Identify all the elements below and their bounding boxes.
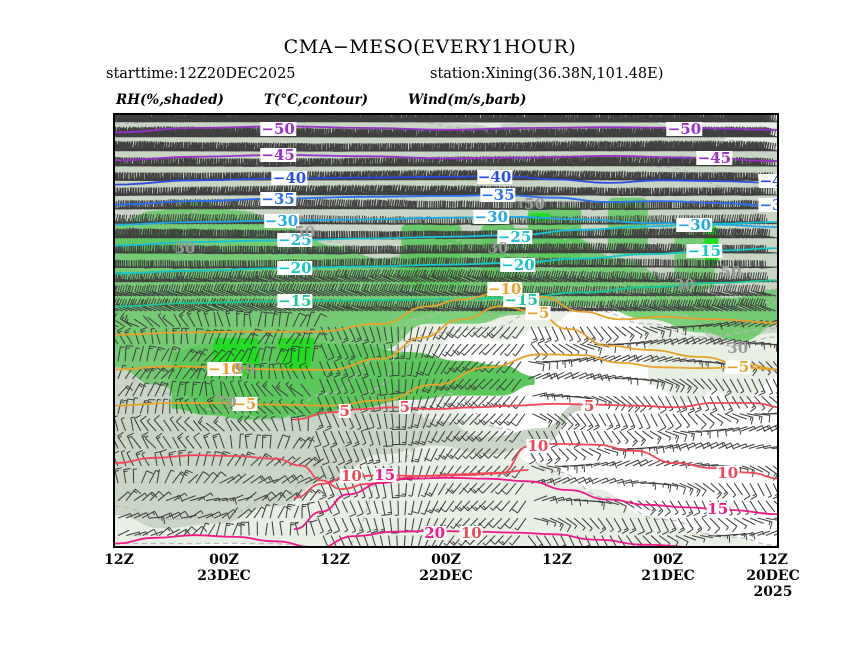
rh-contour-label: 50	[721, 265, 742, 279]
rh-contour-label: 30	[727, 341, 748, 355]
x-axis-label: 12Z	[320, 552, 350, 568]
y-axis-tick	[113, 201, 115, 203]
x-axis-date: 23DEC	[197, 568, 250, 584]
temperature-contour-label: −15	[277, 294, 312, 308]
y-axis-tick	[113, 114, 115, 116]
rh-contour-label: 50	[524, 197, 545, 211]
temperature-contour-label: −45	[260, 148, 295, 162]
y-axis-tick	[113, 317, 115, 319]
y-axis-tick	[113, 143, 115, 145]
y-axis-tick	[777, 404, 779, 406]
legend-rh-label: RH(%,shaded)	[116, 92, 224, 108]
temperature-contour-label: −50	[667, 122, 702, 136]
x-axis-tick	[225, 546, 227, 548]
y-axis-tick	[113, 462, 115, 464]
temperature-contour-label: 10	[340, 469, 363, 483]
x-axis-tick	[669, 546, 671, 548]
rh-contour-label: 70	[216, 395, 237, 409]
temperature-contour-label: −35	[260, 192, 295, 206]
x-axis-label: 12Z	[104, 552, 134, 568]
temperature-contour-label: 5	[339, 404, 351, 418]
station-label: station:Xining(36.38N,101.48E)	[430, 66, 663, 82]
x-axis-time: 12Z	[746, 552, 799, 568]
rh-contour-label: 90	[234, 362, 255, 376]
x-axis-time: 00Z	[641, 552, 694, 568]
temperature-contour-label: −5	[725, 360, 750, 374]
y-axis-tick	[777, 462, 779, 464]
y-axis-tick	[777, 230, 779, 232]
y-axis-tick	[777, 201, 779, 203]
y-axis-tick	[777, 288, 779, 290]
y-axis-tick	[777, 259, 779, 261]
temperature-contour-label: 15	[373, 468, 396, 482]
temperature-contour-label: −50	[260, 122, 295, 136]
temperature-contour-label: −20	[277, 261, 312, 275]
y-axis-tick	[777, 433, 779, 435]
x-axis-time: 12Z	[542, 552, 572, 568]
x-axis-time: 00Z	[419, 552, 472, 568]
temperature-contour-label: −10	[487, 282, 522, 296]
rh-contour-label: 30	[174, 241, 195, 255]
y-axis-tick	[113, 433, 115, 435]
y-axis-tick	[113, 346, 115, 348]
x-axis-label: 12Z20DEC2025	[746, 552, 799, 600]
temperature-contour-label: −15	[687, 244, 722, 258]
temperature-contour-label: −30	[474, 210, 509, 224]
x-axis-label: 00Z22DEC	[419, 552, 472, 584]
temperature-contour-label: 5	[398, 400, 410, 414]
y-axis-tick	[113, 491, 115, 493]
y-axis-tick	[777, 346, 779, 348]
temperature-contour-label: 10	[526, 439, 549, 453]
temperature-contour-label: −3	[758, 198, 779, 212]
x-axis-date: 21DEC	[641, 568, 694, 584]
temperature-contour-label: −40	[477, 170, 512, 184]
x-axis-label: 00Z23DEC	[197, 552, 250, 584]
rh-contour-label: 50	[294, 225, 315, 239]
y-axis-tick	[777, 114, 779, 116]
temperature-contour-label: −4	[758, 174, 779, 188]
temperature-contour-label: 10	[716, 466, 739, 480]
y-axis-tick	[113, 259, 115, 261]
x-axis-time: 12Z	[104, 552, 134, 568]
x-axis-label: 12Z	[542, 552, 572, 568]
y-axis-tick	[113, 230, 115, 232]
subtitle-row: starttime:12Z20DEC2025 station:Xining(36…	[0, 66, 860, 86]
temperature-contour-label: 10	[460, 526, 483, 540]
temperature-contour-label: −5	[525, 306, 550, 320]
temperature-contour-label: −40	[272, 171, 307, 185]
y-axis-tick	[777, 143, 779, 145]
x-axis-date: 20DEC	[746, 568, 799, 584]
rh-contour-label: 30	[488, 241, 509, 255]
y-axis-tick	[777, 491, 779, 493]
y-axis-tick	[777, 317, 779, 319]
x-axis-tick	[336, 546, 338, 548]
y-axis-tick	[113, 520, 115, 522]
x-axis-tick	[114, 546, 116, 548]
y-axis-tick	[113, 375, 115, 377]
y-axis-tick	[113, 404, 115, 406]
temperature-contour-label: 20	[423, 526, 446, 540]
x-axis-time: 12Z	[320, 552, 350, 568]
x-axis-time: 00Z	[197, 552, 250, 568]
rh-contour-label: 30	[674, 278, 695, 292]
temperature-contour-label: −20	[500, 258, 535, 272]
temperature-contour-label: −45	[697, 151, 732, 165]
y-axis-tick	[777, 520, 779, 522]
x-axis-tick	[447, 546, 449, 548]
starttime-label: starttime:12Z20DEC2025	[106, 66, 296, 82]
x-axis-tick	[558, 546, 560, 548]
y-axis-tick	[777, 375, 779, 377]
page-title: CMA−MESO(EVERY1HOUR)	[0, 36, 860, 58]
chart-plot-area: −50−50−45−45−40−40−4−35−35−3−30−30−25−25…	[113, 113, 779, 548]
x-axis-label: 00Z21DEC	[641, 552, 694, 584]
legend-temp-label: T(°C,contour)	[264, 92, 368, 108]
temperature-contour-label: −30	[677, 218, 712, 232]
x-axis-year: 2025	[746, 584, 799, 600]
temperature-contour-label: 15	[706, 502, 729, 516]
temperature-contour-label: −35	[480, 188, 515, 202]
legend-wind-label: Wind(m/s,barb)	[408, 92, 526, 108]
x-axis-date: 22DEC	[419, 568, 472, 584]
y-axis-tick	[113, 172, 115, 174]
y-axis-tick	[113, 288, 115, 290]
temperature-contour-layer	[115, 115, 779, 548]
temperature-contour-label: 5	[583, 399, 595, 413]
y-axis-tick	[777, 172, 779, 174]
legend-row: RH(%,shaded) T(°C,contour) Wind(m/s,barb…	[0, 92, 860, 112]
